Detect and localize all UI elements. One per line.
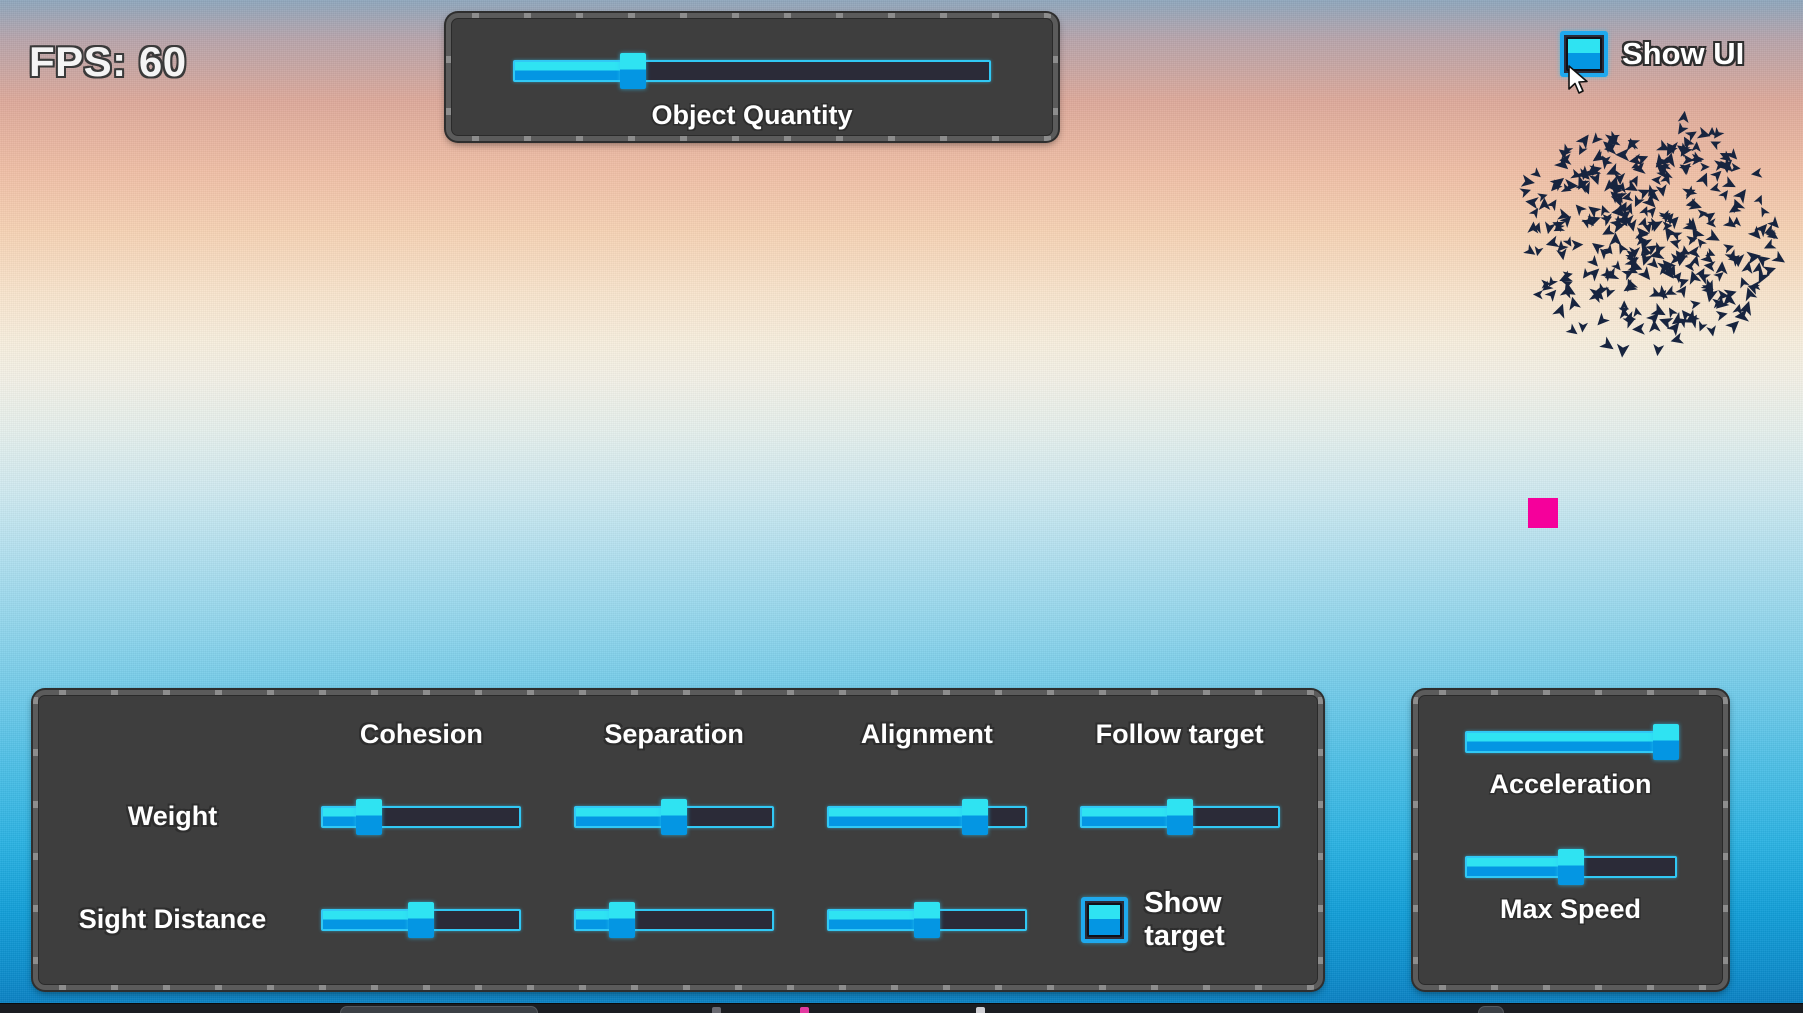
boid [1671,269,1685,283]
boid [1686,233,1698,245]
alignment-sight-distance-slider[interactable] [827,905,1027,935]
boid [1538,198,1550,211]
boid [1678,110,1690,123]
boid [1687,246,1700,259]
boid [1715,261,1728,274]
max-speed-label: Max Speed [1450,894,1691,925]
slider-knob[interactable] [356,799,382,835]
boid [1753,251,1771,268]
boid [1767,229,1781,243]
boid [1589,172,1604,187]
boid [1737,275,1750,288]
boid [1651,175,1662,185]
boid [1757,205,1770,218]
boid [1685,127,1700,141]
boid [1524,195,1538,209]
row-header-weight: Weight [50,801,295,832]
boid [1771,251,1788,268]
boid [1710,167,1725,182]
checkbox-checked-icon [1087,903,1122,937]
boid [1607,187,1623,203]
boid [1554,240,1569,255]
boid [1695,321,1707,333]
boid [1618,304,1630,316]
boid [1577,322,1588,333]
boid [1601,155,1611,165]
boid [1696,269,1711,284]
boid [1580,216,1593,229]
boid [1645,241,1660,256]
boid [1651,242,1665,257]
boid [1666,213,1683,230]
boid [1754,220,1771,237]
boid [1604,163,1622,180]
boid [1657,161,1670,174]
boid [1581,213,1598,230]
boid [1578,168,1591,181]
boid [1694,236,1707,249]
boid [1560,144,1574,158]
object-quantity-panel: Object Quantity [446,13,1058,141]
boid [1697,127,1712,142]
boid [1689,151,1704,166]
boid [1705,248,1717,260]
boid [1626,219,1639,233]
boid [1645,204,1659,218]
cohesion-weight-slider[interactable] [321,802,521,832]
slider-track[interactable] [1465,731,1677,753]
cell-follow-target-weight [1053,802,1306,832]
boid [1588,132,1603,147]
boid [1628,154,1642,168]
boid [1685,198,1698,210]
boid [1563,236,1576,249]
boid [1617,206,1634,223]
boid [1702,282,1719,299]
taskbar-icon-app3[interactable] [976,1007,985,1013]
boid [1570,169,1583,182]
slider-fill [1467,858,1571,876]
max-speed-group: Max Speed [1450,852,1691,925]
boid [1712,297,1724,309]
boid [1632,323,1645,335]
boid [1682,184,1697,199]
boid [1598,204,1610,217]
boid [1706,218,1716,228]
boid [1559,154,1572,166]
slider-fill [1467,733,1665,751]
alignment-weight-slider[interactable] [827,802,1027,832]
boid [1716,308,1729,321]
boid [1722,291,1736,306]
slider-track[interactable] [574,909,774,931]
boid [1726,202,1741,217]
boid [1620,279,1638,296]
boid [1706,325,1718,337]
boid [1572,201,1587,216]
boid [1678,307,1693,322]
boid [1618,307,1630,319]
boid [1523,244,1538,259]
boid [1605,132,1619,145]
boid [1623,201,1637,215]
boid [1660,172,1673,186]
boid [1683,309,1700,326]
boid [1537,190,1549,201]
show-ui-label: Show UI [1622,36,1744,72]
boid [1696,170,1713,187]
boid [1712,296,1730,314]
boid [1658,256,1676,274]
boid [1603,179,1615,192]
boid [1556,248,1568,261]
boid [1684,261,1695,271]
slider-track[interactable] [321,806,521,828]
row-header-sight-distance: Sight Distance [50,904,295,935]
boid [1622,313,1638,328]
boid [1560,284,1574,298]
boid [1623,215,1634,226]
boid [1668,312,1686,329]
os-taskbar[interactable] [0,1003,1803,1013]
boid [1611,260,1624,273]
boid [1521,175,1536,190]
boid [1579,268,1592,282]
boid [1686,269,1701,285]
boid [1667,142,1679,155]
boid [1687,224,1705,242]
cell-separation-sight-distance [548,905,801,935]
boid [1753,269,1770,286]
boid [1695,266,1709,280]
boid [1647,257,1662,272]
boid [1627,264,1641,277]
boid [1650,303,1668,321]
boid [1702,208,1718,224]
boid [1683,154,1695,165]
boid [1611,206,1624,218]
boid [1599,137,1615,153]
boid [1561,183,1573,195]
boid [1746,249,1762,264]
boid [1578,167,1589,179]
boid [1703,260,1715,272]
boid [1639,228,1650,238]
boid [1612,219,1627,233]
boid [1663,285,1677,299]
boid [1742,285,1758,301]
boid [1668,236,1681,249]
boid [1683,185,1697,199]
boid [1616,344,1630,358]
object-quantity-slider[interactable] [513,56,991,88]
boid [1677,275,1691,289]
boid [1718,157,1737,176]
slider-knob[interactable] [1558,849,1584,885]
boid [1674,122,1689,137]
boid [1604,143,1616,155]
slider-track[interactable] [513,60,991,82]
boid [1732,254,1744,267]
boid [1698,209,1709,219]
boid [1669,333,1684,347]
slider-knob[interactable] [962,799,988,835]
slider-track[interactable] [827,806,1027,828]
cell-cohesion-weight [295,802,548,832]
boid [1551,220,1565,234]
boid [1599,337,1617,355]
acceleration-label: Acceleration [1450,769,1691,800]
boid [1653,285,1671,303]
boid [1629,247,1640,259]
boid [1573,175,1591,193]
boid [1607,175,1622,190]
boid [1659,210,1671,223]
boid [1550,173,1568,191]
boid [1675,283,1690,299]
cell-alignment-sight-distance [801,905,1054,935]
boid [1707,127,1716,137]
boid [1562,283,1579,300]
boid [1713,269,1726,282]
boid [1705,229,1722,246]
boid [1557,271,1573,287]
boid [1692,154,1704,166]
boid [1754,193,1766,205]
boid [1732,217,1741,227]
boid [1637,266,1654,284]
boid [1585,202,1602,219]
boid [1539,280,1553,294]
boid [1589,163,1603,177]
boid [1710,127,1724,142]
boid [1660,223,1678,241]
boid [1626,249,1637,259]
boid [1651,153,1669,171]
boid [1637,185,1652,200]
boid [1620,300,1629,310]
slider-knob[interactable] [1167,799,1193,835]
boid [1734,309,1749,324]
boid [1690,298,1702,309]
boid [1657,260,1673,275]
slider-knob[interactable] [1653,724,1679,760]
boid [1600,212,1614,226]
boid [1616,181,1628,193]
boid [1624,180,1641,197]
boid [1593,313,1610,330]
slider-knob[interactable] [620,53,646,89]
boid [1750,281,1760,291]
boid [1565,179,1579,192]
boid [1555,145,1571,161]
show-target-label: Show target [1144,887,1306,953]
mouse-pointer-icon [1568,65,1590,95]
boid [1612,188,1628,203]
separation-sight-distance-slider[interactable] [574,905,774,935]
boid [1638,252,1654,268]
boid [1571,239,1583,251]
column-header-separation: Separation [548,719,801,750]
taskbar-icon-app2[interactable] [800,1007,809,1013]
boid [1629,173,1643,187]
boid [1601,267,1614,280]
boid [1614,173,1626,185]
boid [1720,151,1735,166]
boid [1723,241,1735,253]
boid [1545,276,1558,289]
boid [1614,211,1632,230]
slider-knob[interactable] [914,902,940,938]
boid [1554,156,1572,174]
boid [1593,151,1605,163]
boid [1667,319,1684,336]
boid [1611,192,1627,209]
show-target-control[interactable]: Show target [1053,887,1306,953]
boid [1632,162,1646,175]
boid [1589,288,1603,303]
boid [1671,247,1689,265]
boid [1630,195,1645,210]
boid [1608,136,1620,148]
object-quantity-label: Object Quantity [513,100,991,131]
slider-fill [829,808,974,826]
boid [1717,290,1729,302]
cell-separation-weight [548,802,801,832]
boid [1627,258,1644,275]
boid [1635,227,1649,241]
boid [1659,156,1670,167]
boid [1602,213,1612,224]
acceleration-slider[interactable] [1465,727,1677,757]
slider-knob[interactable] [609,902,635,938]
boid [1662,169,1673,180]
boid [1720,160,1733,174]
boid [1682,218,1700,236]
boid [1677,160,1692,175]
boid [1623,311,1636,324]
boid [1717,148,1732,162]
boid [1576,178,1591,194]
boid [1576,166,1595,185]
column-header-cohesion: Cohesion [295,719,548,750]
slider-fill [1082,808,1180,826]
boid [1587,212,1602,227]
boid [1676,314,1690,328]
boid [1551,222,1565,236]
boid [1603,244,1616,257]
slider-fill [515,62,634,80]
follow-target-weight-slider[interactable] [1080,802,1280,832]
boid [1547,179,1563,195]
boid [1609,232,1622,245]
boid [1677,246,1690,259]
boid [1615,199,1631,216]
boid [1579,182,1594,197]
boid [1602,267,1619,284]
cohesion-sight-distance-slider[interactable] [321,905,521,935]
boid [1722,176,1739,192]
slider-knob[interactable] [661,799,687,835]
boid [1767,216,1783,232]
boid [1659,209,1674,224]
boid [1561,277,1574,290]
boid [1648,319,1660,332]
boid [1589,149,1607,166]
boid [1576,131,1594,149]
boid [1607,131,1620,144]
boid [1685,217,1700,232]
separation-weight-slider[interactable] [574,802,774,832]
boid [1566,324,1581,339]
boid [1600,224,1616,239]
boid [1689,254,1702,267]
boid [1642,194,1660,212]
boid [1648,218,1663,233]
slider-fill [829,911,927,929]
boid [1679,159,1695,175]
taskbar-window-button[interactable] [340,1006,538,1013]
simulation-viewport[interactable]: FPS: 60 Object Quantity Show UI Cohesion [0,0,1803,1003]
boid [1662,151,1678,167]
boid [1647,189,1660,202]
boid [1638,243,1651,256]
boid [1592,288,1607,303]
boid [1674,141,1691,158]
boid [1644,184,1659,199]
taskbar-tray[interactable] [1478,1006,1504,1013]
boid [1566,295,1581,310]
boid [1700,251,1716,267]
boid [1608,184,1623,198]
boid [1647,217,1662,231]
boid [1529,205,1542,218]
boid [1663,221,1673,230]
boid [1625,137,1638,151]
boid [1552,302,1569,319]
boid [1544,236,1559,251]
taskbar-icon-app1[interactable] [712,1007,721,1013]
max-speed-slider[interactable] [1465,852,1677,882]
boid [1714,158,1727,171]
boid [1685,312,1702,329]
boid [1748,226,1765,243]
slider-knob[interactable] [408,902,434,938]
fps-counter: FPS: 60 [29,38,187,86]
boid [1656,140,1672,156]
boid [1763,263,1778,278]
show-target-checkbox[interactable] [1081,897,1128,943]
boid [1586,264,1603,281]
boid [1728,251,1744,267]
boid [1639,204,1651,216]
boid [1636,235,1647,246]
boid [1661,264,1679,282]
boid [1762,239,1777,254]
boid [1700,162,1710,171]
target-marker[interactable] [1528,498,1558,528]
boid [1691,141,1701,152]
boid [1765,230,1775,239]
boid [1519,185,1532,198]
boid [1673,252,1687,267]
boid [1642,247,1653,257]
boid [1669,228,1682,241]
boid [1621,266,1636,280]
boid [1557,208,1572,222]
boid [1609,179,1627,196]
boid [1732,303,1744,315]
